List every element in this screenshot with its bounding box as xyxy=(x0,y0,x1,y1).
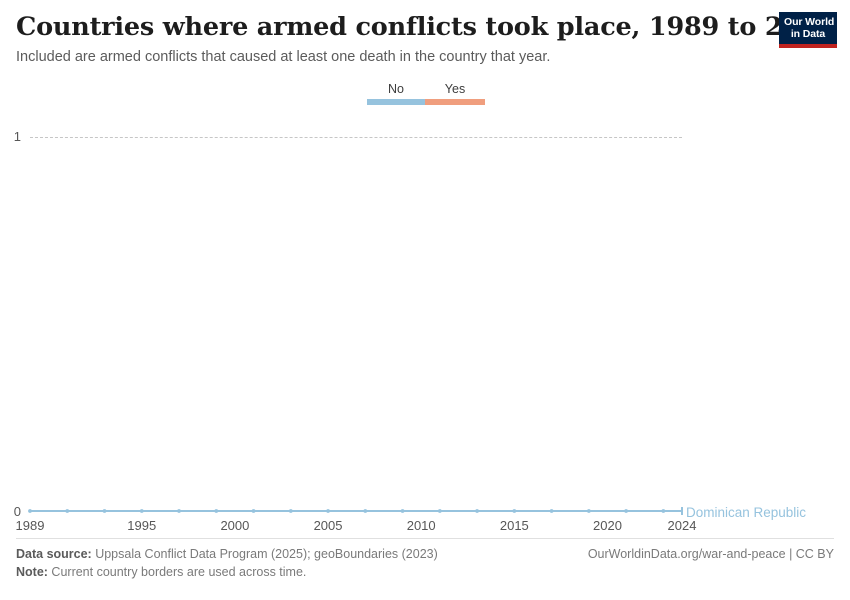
data-point-marker[interactable] xyxy=(289,509,293,513)
data-point-marker[interactable] xyxy=(326,509,330,513)
data-point-marker[interactable] xyxy=(475,509,479,513)
our-world-in-data-logo[interactable]: Our World in Data xyxy=(779,12,837,48)
data-point-marker[interactable] xyxy=(140,509,144,513)
footer-divider xyxy=(16,538,834,539)
data-point-marker[interactable] xyxy=(103,509,107,513)
data-point-marker[interactable] xyxy=(624,509,628,513)
logo-line-2: in Data xyxy=(784,28,832,40)
x-axis-tick-1989: 1989 xyxy=(0,518,60,533)
owid-chart: Countries where armed conflicts took pla… xyxy=(0,0,850,600)
footer-attribution[interactable]: OurWorldinData.org/war-and-peace | CC BY xyxy=(588,545,834,563)
data-point-marker[interactable] xyxy=(401,509,405,513)
legend-swatch-yes[interactable] xyxy=(425,99,485,105)
chart-footer: Data source: Uppsala Conflict Data Progr… xyxy=(16,545,834,581)
data-point-marker[interactable] xyxy=(550,509,554,513)
chart-header: Countries where armed conflicts took pla… xyxy=(16,12,756,67)
data-point-marker[interactable] xyxy=(661,509,665,513)
x-axis-tick-2005: 2005 xyxy=(298,518,358,533)
data-point-marker[interactable] xyxy=(587,509,591,513)
chart-legend: No Yes xyxy=(367,82,485,106)
data-point-marker[interactable] xyxy=(363,509,367,513)
data-point-marker[interactable] xyxy=(177,509,181,513)
x-axis-line xyxy=(30,511,682,512)
data-point-marker[interactable] xyxy=(65,509,69,513)
x-axis-tick-2010: 2010 xyxy=(391,518,451,533)
x-axis-tick-2020: 2020 xyxy=(577,518,637,533)
chart-subtitle: Included are armed conflicts that caused… xyxy=(16,48,756,67)
legend-labels: No Yes xyxy=(367,82,485,96)
legend-swatch-no[interactable] xyxy=(367,99,425,105)
data-point-marker[interactable] xyxy=(28,509,32,513)
gridline-1 xyxy=(30,137,682,138)
legend-item-no-label[interactable]: No xyxy=(367,82,425,96)
data-point-marker[interactable] xyxy=(438,509,442,513)
data-source-label: Data source: xyxy=(16,547,92,561)
x-axis-tick-2000: 2000 xyxy=(205,518,265,533)
data-source-value: Uppsala Conflict Data Program (2025); ge… xyxy=(92,547,438,561)
page-title: Countries where armed conflicts took pla… xyxy=(16,12,756,42)
x-axis-tick-1995: 1995 xyxy=(112,518,172,533)
y-axis-tick-0: 0 xyxy=(5,505,21,518)
legend-swatches xyxy=(367,99,485,105)
y-axis-tick-1: 1 xyxy=(5,130,21,143)
series-end-label-dominican-republic[interactable]: Dominican Republic xyxy=(686,505,806,520)
data-point-marker[interactable] xyxy=(252,509,256,513)
legend-item-yes-label[interactable]: Yes xyxy=(425,82,485,96)
note-value: Current country borders are used across … xyxy=(48,565,306,579)
data-point-marker[interactable] xyxy=(214,509,218,513)
footer-row-source: Data source: Uppsala Conflict Data Progr… xyxy=(16,545,834,563)
logo-line-1: Our World xyxy=(784,16,832,28)
footer-row-note: Note: Current country borders are used a… xyxy=(16,563,834,581)
x-axis-tick-2024: 2024 xyxy=(652,518,712,533)
x-axis-tick-2015: 2015 xyxy=(484,518,544,533)
note-label: Note: xyxy=(16,565,48,579)
data-point-marker[interactable] xyxy=(512,509,516,513)
